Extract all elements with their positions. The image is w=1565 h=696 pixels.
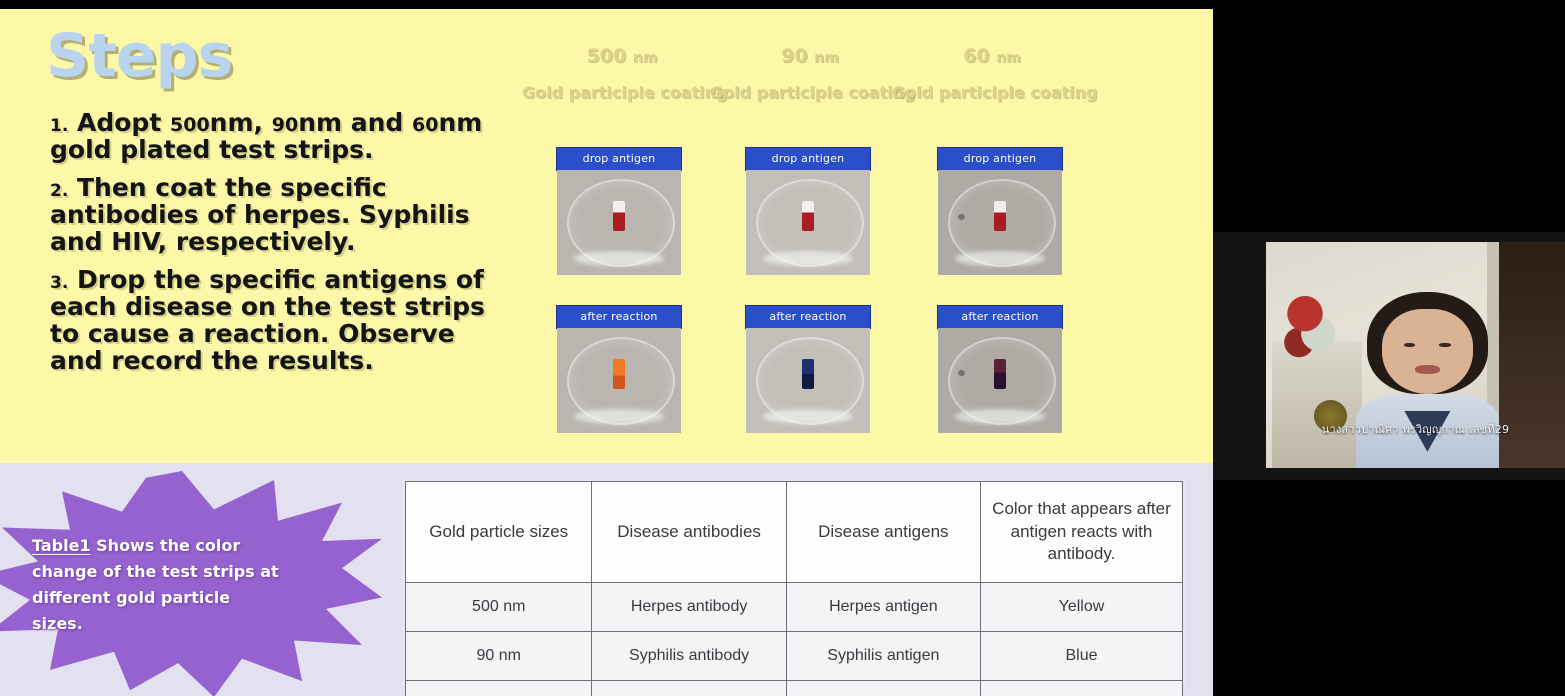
panel-label-drop-antigen: drop antigen: [746, 148, 870, 170]
background-decoration: [1281, 292, 1341, 364]
presentation-slide: Steps 1. Adopt 500nm, 90nm and 60nm gold…: [0, 9, 1213, 696]
petri-dish-image: [938, 170, 1062, 275]
table-caption-text: Table1 Shows the color change of the tes…: [32, 533, 282, 637]
table-row: 90 nm Syphilis antibody Syphilis antigen…: [406, 632, 1183, 681]
petri-dish-image: [557, 170, 681, 275]
panel-label-drop-antigen: drop antigen: [557, 148, 681, 170]
panel-after-reaction-500: after reaction: [557, 306, 681, 433]
test-strip: [802, 359, 814, 389]
table-cell: HIV antigen: [786, 681, 980, 696]
coating-label-90: Gold participle coating: [710, 83, 910, 102]
particle-size-60: 60 nm: [892, 45, 1092, 67]
test-strip: [994, 359, 1006, 389]
coating-label-60: Gold participle coating: [892, 83, 1092, 102]
panel-drop-antigen-60: drop antigen: [938, 148, 1062, 275]
table-header-cell: Disease antigens: [786, 482, 980, 583]
column-header-60nm: 60 nm Gold participle coating: [892, 45, 1092, 102]
particle-size-90: 90 nm: [710, 45, 910, 67]
table-cell: Purple: [980, 681, 1182, 696]
table-row: 60 nm HIV antibody HIV antigen Purple: [406, 681, 1183, 696]
panel-after-reaction-90: after reaction: [746, 306, 870, 433]
steps-list: 1. Adopt 500nm, 90nm and 60nm gold plate…: [50, 109, 500, 385]
table-header-row: Gold particle sizes Disease antibodies D…: [406, 482, 1183, 583]
panel-drop-antigen-90: drop antigen: [746, 148, 870, 275]
screen-root: Steps 1. Adopt 500nm, 90nm and 60nm gold…: [0, 0, 1565, 696]
table-header-cell: Disease antibodies: [592, 482, 786, 583]
webcam-tile[interactable]: นางสาวปาณิศา พรวิญญุกาณ เลขที่29: [1213, 232, 1565, 480]
table-cell: Yellow: [980, 583, 1182, 632]
webcam-video: นางสาวปาณิศา พรวิญญุกาณ เลขที่29: [1266, 242, 1565, 468]
test-strip: [613, 201, 625, 231]
petri-dish-image: [557, 328, 681, 433]
table-header-cell: Color that appears after antigen reacts …: [980, 482, 1182, 583]
column-header-90nm: 90 nm Gold participle coating: [710, 45, 910, 102]
column-header-500nm: 500 nm Gold participle coating: [522, 45, 722, 102]
table-cell: HIV antibody: [592, 681, 786, 696]
step-item-1: 1. Adopt 500nm, 90nm and 60nm gold plate…: [50, 109, 500, 163]
panel-label-after-reaction: after reaction: [557, 306, 681, 328]
panel-label-after-reaction: after reaction: [938, 306, 1062, 328]
particle-size-500: 500 nm: [522, 45, 722, 67]
step-item-2: 2. Then coat the specific antibodies of …: [50, 174, 500, 255]
table-header-cell: Gold particle sizes: [406, 482, 592, 583]
page-title: Steps: [46, 21, 232, 91]
speaker-face: [1382, 309, 1474, 394]
panel-label-after-reaction: after reaction: [746, 306, 870, 328]
table-cell: Syphilis antibody: [592, 632, 786, 681]
speaker-figure: [1356, 292, 1500, 468]
table-cell: Herpes antibody: [592, 583, 786, 632]
table-cell: 60 nm: [406, 681, 592, 696]
speaker-eye-left: [1404, 343, 1416, 347]
panel-after-reaction-60: after reaction: [938, 306, 1062, 433]
petri-dish-image: [746, 328, 870, 433]
results-table-wrapper: Gold particle sizes Disease antibodies D…: [403, 479, 1185, 689]
table-cell: 90 nm: [406, 632, 592, 681]
table-cell: 500 nm: [406, 583, 592, 632]
panel-drop-antigen-500: drop antigen: [557, 148, 681, 275]
table-caption-label: Table1: [32, 536, 91, 555]
coating-label-500: Gold participle coating: [522, 83, 722, 102]
test-strip: [802, 201, 814, 231]
test-strip: [994, 201, 1006, 231]
table-row: 500 nm Herpes antibody Herpes antigen Ye…: [406, 583, 1183, 632]
step-item-3: 3. Drop the specific antigens of each di…: [50, 266, 500, 374]
speaker-mouth: [1415, 365, 1441, 374]
table-cell: Herpes antigen: [786, 583, 980, 632]
test-strip: [613, 359, 625, 389]
speaker-eye-right: [1439, 343, 1451, 347]
table-caption-starburst: Table1 Shows the color change of the tes…: [0, 471, 382, 696]
panel-label-drop-antigen: drop antigen: [938, 148, 1062, 170]
petri-dish-image: [938, 328, 1062, 433]
table-cell: Blue: [980, 632, 1182, 681]
petri-dish-image: [746, 170, 870, 275]
results-table: Gold particle sizes Disease antibodies D…: [405, 481, 1183, 696]
dish-speck: [958, 214, 965, 220]
webcam-name-caption: นางสาวปาณิศา พรวิญญุกาณ เลขที่29: [1266, 420, 1565, 438]
dish-speck: [958, 370, 965, 376]
table-cell: Syphilis antigen: [786, 632, 980, 681]
